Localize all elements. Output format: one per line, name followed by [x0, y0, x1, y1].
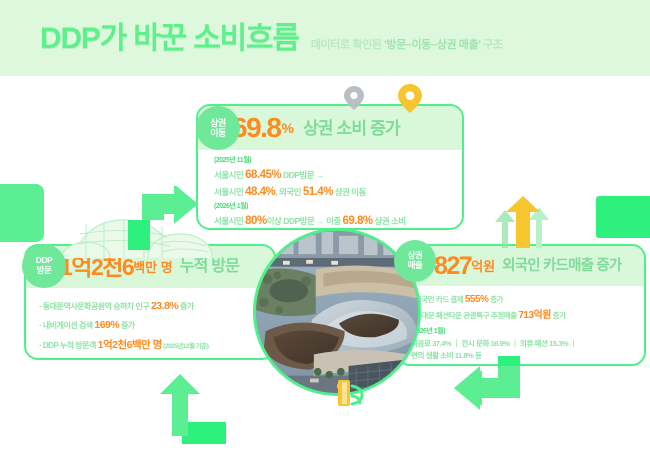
detail-segment: 48.4% [245, 186, 275, 198]
card-sales-unit: 억원 [471, 260, 495, 273]
detail-segment: · DDP 누적 방문객 [39, 341, 98, 350]
flow-arrow-up-icon [126, 372, 236, 450]
detail-segment: 상권 이동 [333, 187, 366, 197]
page-header: DDP가 바꾼 소비흐름 데이터로 확인된 '방문–이동–상권 매출' 구조 [0, 0, 650, 76]
subtitle-post: 구조 [480, 39, 502, 51]
detail-segment: · 동대문역사문화공원역 승하차 인구 [39, 302, 151, 311]
photo-bottom-marker-icon [330, 380, 370, 422]
badge-sales-line2: 매출 [408, 261, 423, 271]
card-move-unit: % [282, 121, 294, 135]
edge-accent-right [596, 196, 650, 238]
subtitle-strong: '방문–이동–상권 매출' [384, 39, 480, 51]
detail-date-line: (2026년 1월) [411, 327, 638, 338]
badge-move-line2: 이동 [210, 128, 226, 138]
detail-segment: 이상 DDP방문 → 이중 [267, 216, 343, 226]
badge-visit-line2: 방문 [37, 266, 52, 276]
detail-segment: 서울시민 [214, 170, 245, 180]
detail-segment: 증가 [488, 295, 503, 304]
badge-ddp-visit: DDP 방문 [22, 244, 66, 288]
badge-commercial-movement: 상권 이동 [196, 106, 240, 150]
badge-commercial-sales: 상권 매출 [394, 240, 436, 282]
detail-segment: , 외국인 [275, 187, 303, 197]
detail-segment: 증가 [551, 311, 566, 320]
badge-move-line1: 상권 [210, 118, 226, 128]
card-visit-label: 누적 방문 [180, 259, 239, 275]
detail-stat-line: · DDP 누적 방문객 1억2천6백만 명 (2025년12월 기준) [39, 336, 266, 355]
detail-segment: 51.4% [303, 186, 333, 198]
flow-arrow-right-icon [128, 186, 200, 250]
page-subtitle: 데이터로 확인된 '방문–이동–상권 매출' 구조 [311, 36, 503, 52]
card-sales-label: 외국인 카드매출 증가 [502, 259, 621, 274]
card-visit-value: 1억2천6 [60, 256, 133, 279]
flow-arrow-left-icon [420, 356, 536, 434]
detail-segment: 1억2천6백만 명 [98, 339, 162, 351]
detail-segment: 713억원 [518, 310, 551, 321]
infographic-canvas: DDP가 바꾼 소비흐름 데이터로 확인된 '방문–이동–상권 매출' 구조 [0, 0, 650, 459]
detail-stat-line: 서울시민 68.45% DDP방문 → [214, 167, 452, 185]
detail-stat-line: · 외국인 카드 결제 555% 증가 [411, 292, 638, 308]
detail-stat-line: 식음료 37.4% ｜ 전시 문화 16.9% ｜ 의류 패션 15.3% ｜ [411, 338, 638, 350]
detail-stat-line: 서울시민 48.4%, 외국인 51.4% 상권 이동 [214, 184, 452, 202]
detail-date-line: (2025년 11월) [214, 156, 452, 167]
card-sales-value: 827 [434, 254, 471, 279]
detail-segment: DDP방문 → [281, 170, 324, 180]
card-visit-unit: 백만 명 [133, 261, 173, 274]
detail-segment: · 내비게이션 검색 [39, 321, 94, 330]
detail-segment: 80% [245, 215, 267, 227]
detail-date-line: (2026년 1월) [214, 202, 452, 213]
card-sales-body: · 외국인 카드 결제 555% 증가· 동대문 패션타운 관광특구 추정매출 … [398, 286, 644, 366]
detail-segment: 식음료 37.4% ｜ 전시 문화 16.9% ｜ 의류 패션 15.3% ｜ [411, 339, 577, 348]
detail-segment: 증가 [119, 321, 134, 330]
detail-stat-line: · 동대문역사문화공원역 승하차 인구 23.8% 증가 [39, 297, 266, 316]
detail-segment: 69.8% [343, 215, 373, 227]
detail-segment: 555% [465, 294, 489, 305]
detail-segment: 169% [94, 319, 119, 331]
map-route-group [338, 84, 438, 126]
detail-segment: 증가 [178, 302, 193, 311]
detail-stat-line: · 내비게이션 검색 169% 증가 [39, 316, 266, 335]
card-move-body: (2025년 11월)서울시민 68.45% DDP방문 →서울시민 48.4%… [198, 150, 462, 230]
detail-segment: (2025년12월 기준) [162, 343, 209, 350]
detail-segment: 23.8% [151, 300, 178, 312]
page-title: DDP가 바꾼 소비흐름 [40, 24, 299, 54]
detail-segment: 68.45% [245, 169, 281, 181]
detail-segment: · 동대문 패션타운 관광특구 추정매출 [411, 311, 518, 320]
detail-segment: 상권 소비 [373, 216, 406, 226]
header-inner: DDP가 바꾼 소비흐름 데이터로 확인된 '방문–이동–상권 매출' 구조 [40, 24, 503, 54]
edge-accent-left [0, 184, 44, 242]
detail-stat-line: · 동대문 패션타운 관광특구 추정매출 713억원 증가 [411, 308, 638, 324]
growth-up-arrows-icon [492, 196, 554, 248]
card-visit-body: · 동대문역사문화공원역 승하차 인구 23.8% 증가· 내비게이션 검색 1… [26, 288, 274, 360]
subtitle-pre: 데이터로 확인된 [311, 39, 384, 51]
